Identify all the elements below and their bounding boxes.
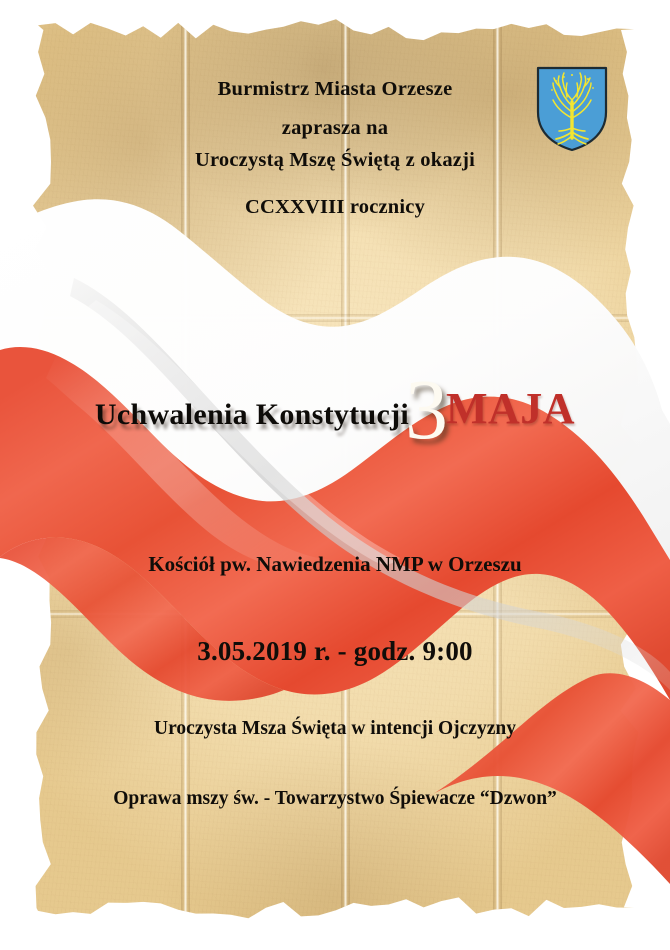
title-numeral-three: 3 xyxy=(405,366,448,452)
title-constitution-text: Uchwalenia Konstytucji xyxy=(95,398,409,432)
detail-datetime: 3.05.2019 r. - godz. 9:00 xyxy=(0,636,670,667)
header-line-invites: zaprasza na xyxy=(0,117,670,140)
parchment-fold-crease xyxy=(30,610,642,618)
detail-intention: Uroczysta Msza Święta w intencji Ojczyzn… xyxy=(0,718,670,740)
parchment-fold-crease xyxy=(30,314,642,322)
detail-venue: Kościół pw. Nawiedzenia NMP w Orzeszu xyxy=(0,552,670,577)
poster-root: Burmistrz Miasta Orzesze zaprasza na Uro… xyxy=(0,0,670,950)
header-line-occasion: Uroczystą Mszę Świętą z okazji xyxy=(0,149,670,172)
title-month-maja: MAJA xyxy=(446,383,575,434)
header-line-mayor: Burmistrz Miasta Orzesze xyxy=(0,78,670,101)
header-line-anniversary: CCXXVIII rocznicy xyxy=(0,196,670,219)
main-title: Uchwalenia Konstytucji 3 MAJA xyxy=(0,352,670,412)
detail-music: Oprawa mszy św. - Towarzystwo Śpiewacze … xyxy=(0,788,670,810)
